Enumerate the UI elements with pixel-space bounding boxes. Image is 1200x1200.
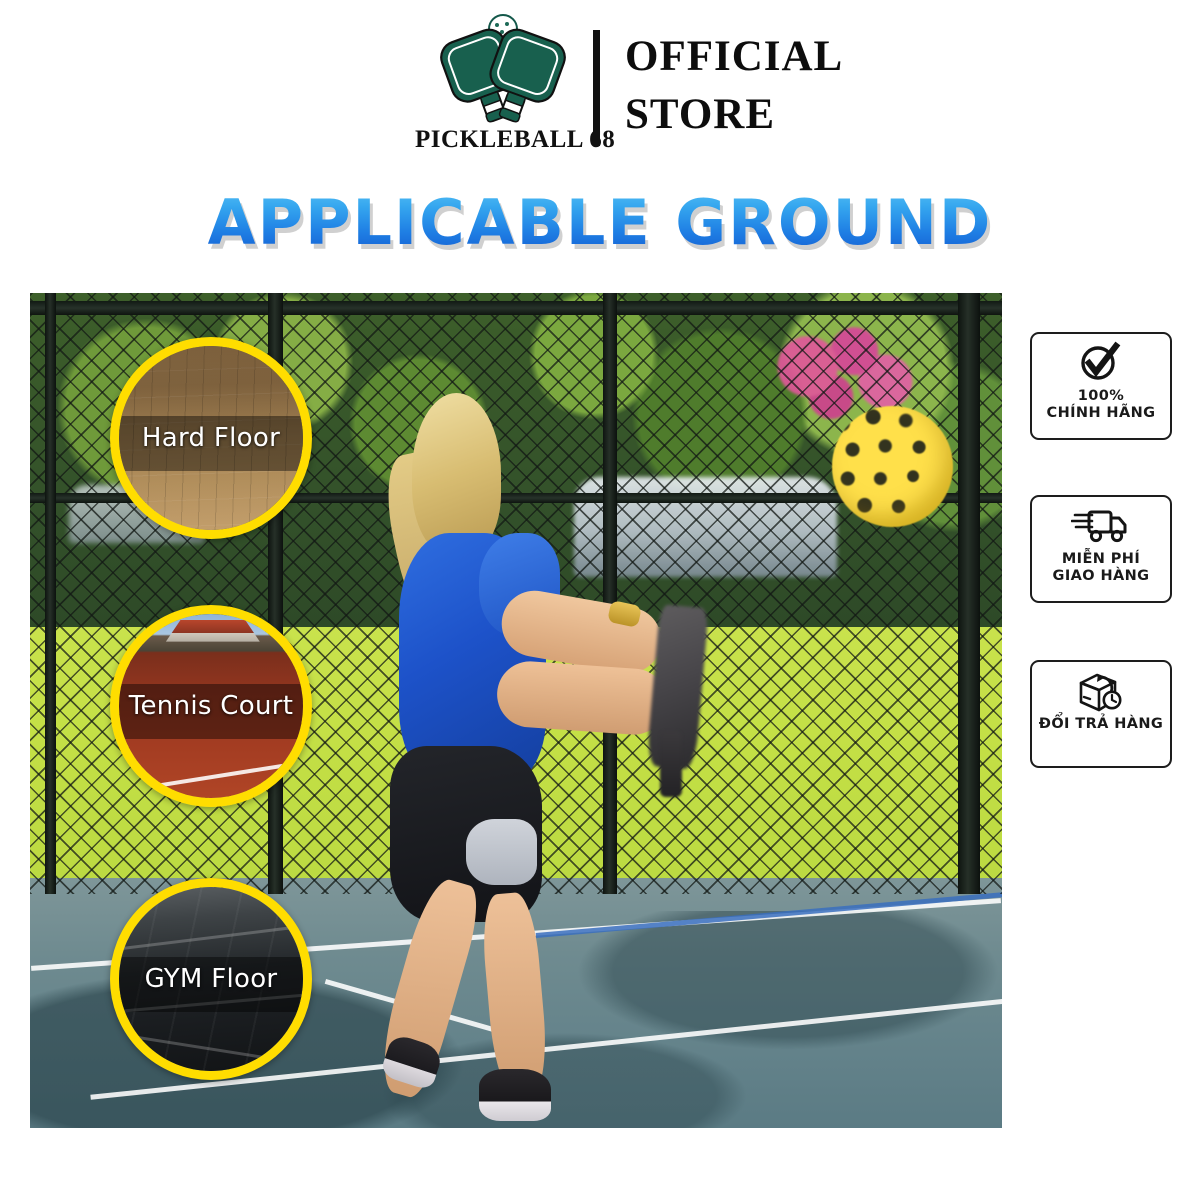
badge-free-shipping: MIỄN PHÍ GIAO HÀNG <box>1030 495 1172 603</box>
fence-post-far-left <box>45 293 57 894</box>
delivery-truck-icon <box>1071 504 1131 548</box>
check-circle-icon <box>1071 341 1131 385</box>
product-infographic-page: PICKLEBALL 68 OFFICIAL STORE APPLICABLE … <box>0 0 1200 1200</box>
callout-tennis-court[interactable]: Tennis Court <box>110 605 312 807</box>
player-shorts-trim <box>466 819 538 885</box>
player-arm-lower <box>495 659 669 737</box>
brand-name: PICKLEBALL 68 <box>415 126 595 154</box>
callout-label: Tennis Court <box>119 614 303 798</box>
crossed-pickleball-paddles-icon <box>423 14 583 126</box>
official-store-line2: STORE <box>625 86 925 144</box>
header-divider-icon <box>593 30 600 146</box>
main-product-photo: Hard Floor Tennis Court GYM Floor <box>30 293 1002 1128</box>
yellow-pickleball-icon <box>832 406 954 527</box>
badge-authentic: 100% CHÍNH HÃNG <box>1030 332 1172 440</box>
official-store-label: OFFICIAL STORE <box>625 28 925 144</box>
return-box-clock-icon <box>1071 669 1131 713</box>
badge-returns-line1: ĐỔI TRẢ HÀNG <box>1039 716 1163 733</box>
pickleball-player <box>390 393 837 1128</box>
badge-authentic-line2: CHÍNH HÃNG <box>1047 405 1156 422</box>
fence-post-right <box>958 293 979 894</box>
player-hair <box>412 393 501 555</box>
page-title: APPLICABLE GROUND <box>0 186 1200 260</box>
pickleball-paddle-grip <box>660 731 682 797</box>
badge-free-shipping-line1: MIỄN PHÍ <box>1053 551 1150 568</box>
badge-free-shipping-text: MIỄN PHÍ GIAO HÀNG <box>1053 551 1150 585</box>
callout-label: Hard Floor <box>119 346 303 530</box>
callout-label: GYM Floor <box>119 887 303 1071</box>
brand-header: PICKLEBALL 68 OFFICIAL STORE <box>0 0 1200 180</box>
fence-top-rail <box>30 301 1002 314</box>
badge-free-shipping-line2: GIAO HÀNG <box>1053 568 1150 585</box>
badge-authentic-text: 100% CHÍNH HÃNG <box>1047 388 1156 422</box>
badge-returns: ĐỔI TRẢ HÀNG <box>1030 660 1172 768</box>
badge-returns-text: ĐỔI TRẢ HÀNG <box>1039 716 1163 733</box>
official-store-line1: OFFICIAL <box>625 28 925 86</box>
brand-logo-block: PICKLEBALL 68 <box>415 14 590 164</box>
badge-authentic-line1: 100% <box>1047 388 1156 405</box>
player-shoe-right <box>479 1069 551 1120</box>
callout-gym-floor[interactable]: GYM Floor <box>110 878 312 1080</box>
callout-hard-floor[interactable]: Hard Floor <box>110 337 312 539</box>
